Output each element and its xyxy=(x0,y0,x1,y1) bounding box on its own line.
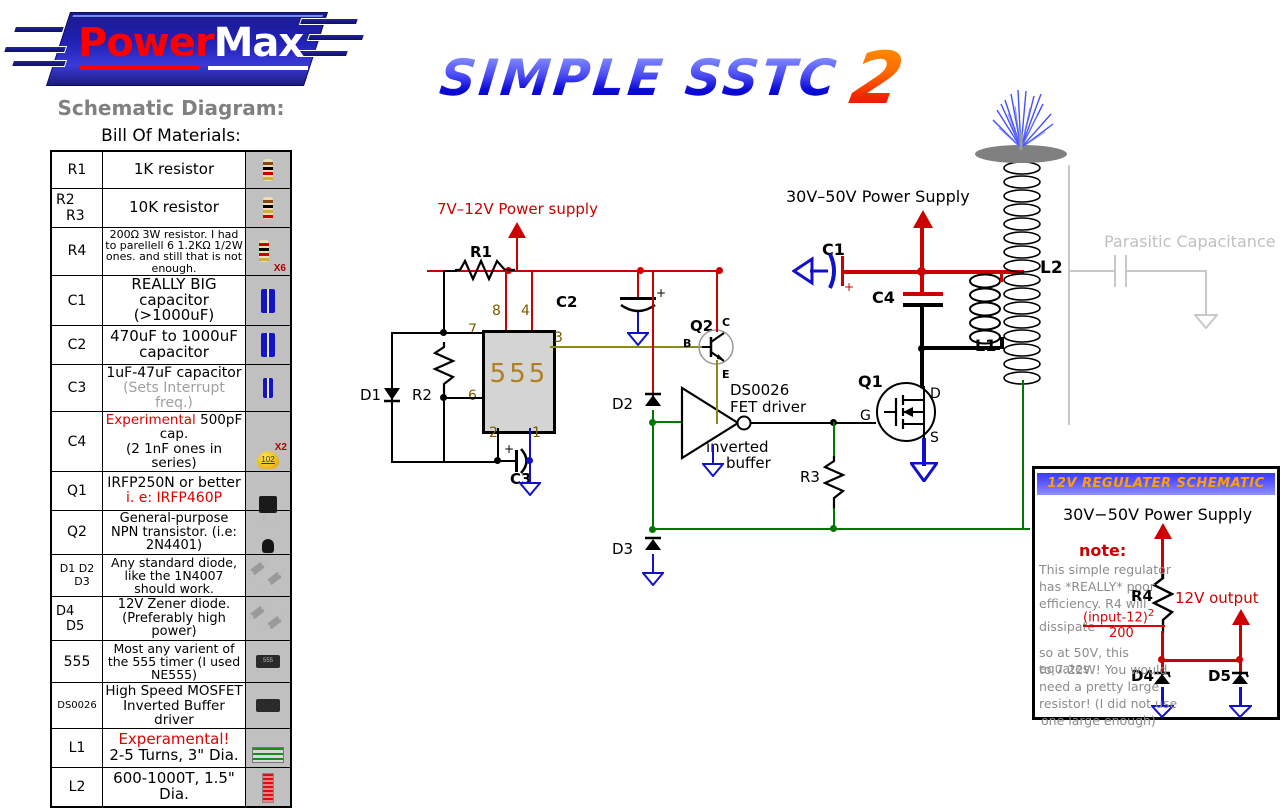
table-row: R4 200Ω 3W resistor. I had to parellell … xyxy=(51,228,291,276)
l2-secondary-coil-icon xyxy=(1002,160,1042,390)
regulator-note-line-1: This simple regulator xyxy=(1039,562,1171,578)
c2-label: C2 xyxy=(556,293,577,311)
c3-ground-wire xyxy=(529,460,531,484)
to247-mosfet-icon xyxy=(259,496,277,513)
bom-ref: L2 xyxy=(51,767,103,807)
diode-icon xyxy=(267,572,282,586)
q1-gate-terminal: G xyxy=(860,408,871,424)
r2-label: R2 xyxy=(412,386,432,404)
regulator-output-arrow-icon xyxy=(1232,609,1250,625)
q1-mosfet-icon xyxy=(876,382,936,447)
bom-icon-cell: 102 X2 xyxy=(246,412,292,472)
pin-8-label: 8 xyxy=(492,303,501,319)
driver-vcc-wire xyxy=(716,386,718,424)
pin-6-label: 6 xyxy=(468,388,477,404)
pin-1-label: 1 xyxy=(532,425,541,441)
regulator-output-rail xyxy=(1161,659,1241,662)
d3-label: D3 xyxy=(612,540,633,558)
driver-ground-wire xyxy=(712,445,714,465)
parasitic-left-wire xyxy=(1068,165,1070,425)
bom-desc: REALLY BIG capacitor (>1000uF) xyxy=(103,275,246,325)
bom-ref: 555 xyxy=(51,641,103,683)
bom-icon-cell xyxy=(246,683,292,729)
bom-qty: X6 xyxy=(274,263,286,274)
diode-icon xyxy=(267,615,282,629)
table-row: D4D5 12V Zener diode. (Preferably high p… xyxy=(51,597,291,641)
regulator-output-wire xyxy=(1239,625,1242,661)
resistor-icon xyxy=(263,197,273,219)
c3-left-wire xyxy=(497,460,515,462)
spark-discharge-icon xyxy=(985,88,1057,155)
driver-input-wire xyxy=(652,421,682,423)
pin6-wire xyxy=(443,397,484,399)
regulator-note-line-9: one large enough) xyxy=(1041,713,1173,729)
gate-drive-wire xyxy=(750,422,876,424)
bom-heading: Bill Of Materials: xyxy=(26,126,316,146)
regulator-output-label: 12V output xyxy=(1175,589,1259,607)
table-row: C3 1uF-47uF capacitor (Sets Interrupt fr… xyxy=(51,365,291,412)
bom-desc: Experimental 500pF cap. (2 1nF ones in s… xyxy=(103,412,246,472)
pin2-wire-down xyxy=(497,428,499,460)
table-row: Q2 General-purpose NPN transistor. (i.e:… xyxy=(51,510,291,554)
secondary-coil-icon xyxy=(262,773,274,803)
d2-anode-wire xyxy=(652,270,654,398)
parasitic-wire-in xyxy=(1068,270,1114,272)
q1-source-terminal: S xyxy=(930,430,939,446)
to92-transistor-icon xyxy=(262,539,274,553)
d5-label: D5 xyxy=(1208,667,1231,685)
table-row: C4 Experimental 500pF cap. (2 1nF ones i… xyxy=(51,412,291,472)
bom-ref: L1 xyxy=(51,728,103,767)
bill-of-materials-table: R1 1K resistor R2R3 10K resistor R4 200Ω… xyxy=(50,150,292,808)
c2-plate-top xyxy=(620,297,656,300)
logo-underline-red xyxy=(80,66,200,70)
low-supply-wire xyxy=(516,236,518,272)
logo-underline-white xyxy=(208,66,308,70)
page-title-text: SIMPLE SSTC xyxy=(437,49,842,107)
d1-diode-icon xyxy=(382,384,402,409)
page-title-number: 2 xyxy=(845,36,910,120)
bom-icon-cell xyxy=(246,189,292,228)
c4-bottom-wire xyxy=(920,305,924,347)
bom-desc: 1K resistor xyxy=(103,151,246,189)
ground-symbol-c3 xyxy=(519,482,541,496)
bom-qty: X2 xyxy=(275,442,287,453)
resistor-icon xyxy=(263,159,273,181)
ceramic-disc-cap-icon: 102 xyxy=(257,451,279,469)
table-row: R1 1K resistor xyxy=(51,151,291,189)
logo-text-power: Power xyxy=(78,20,214,66)
bom-desc: 470uF to 1000uF capacitor xyxy=(103,326,246,365)
bom-ref: Q2 xyxy=(51,510,103,554)
pin7-wire xyxy=(443,332,484,334)
d3-ground-wire xyxy=(652,554,654,574)
bom-desc: 600-1000T, 1.5" Dia. xyxy=(103,767,246,807)
bom-desc: Most any varient of the 555 timer (I use… xyxy=(103,641,246,683)
logo-tail-1 xyxy=(13,26,65,33)
bom-desc-text: 1uF-47uF capacitor xyxy=(106,365,241,381)
bom-icon-cell xyxy=(246,554,292,596)
bom-ref: Q1 xyxy=(51,471,103,510)
bom-desc: 12V Zener diode. (Preferably high power) xyxy=(103,597,246,641)
bom-desc: 10K resistor xyxy=(103,189,246,228)
ic-555-label: 555 xyxy=(485,359,553,389)
table-row: L1 Experamental! 2-5 Turns, 3" Dia. xyxy=(51,728,291,767)
bom-ref: C4 xyxy=(51,412,103,472)
table-row: DS0026 High Speed MOSFET Inverted Buffer… xyxy=(51,683,291,729)
c4-label: C4 xyxy=(872,288,895,307)
regulator-panel: 12V REGULATER SCHEMATIC 30V−50V Power Su… xyxy=(1032,466,1280,720)
pin8-wire xyxy=(505,270,507,330)
bom-desc: Experamental! 2-5 Turns, 3" Dia. xyxy=(103,728,246,767)
regulator-header-text: 12V REGULATER SCHEMATIC xyxy=(1037,473,1275,495)
logo-tail-3 xyxy=(11,60,67,67)
high-supply-wire xyxy=(920,226,924,272)
table-row: D1 D2D3 Any standard diode, like the 1N4… xyxy=(51,554,291,596)
bom-icon-cell xyxy=(246,471,292,510)
q2-base-terminal: B xyxy=(683,337,691,350)
regulator-supply-label: 30V−50V Power Supply xyxy=(1063,505,1252,524)
parasitic-plate-1 xyxy=(1114,255,1116,287)
regulator-note-line-7: need a pretty large xyxy=(1039,679,1171,695)
table-row: 555 Most any varient of the 555 timer (I… xyxy=(51,641,291,683)
regulator-supply-arrow-icon xyxy=(1154,523,1172,539)
driver-sub-label: FET driver xyxy=(730,398,806,416)
q1-drain-terminal: D xyxy=(930,386,941,402)
d2-cathode-wire xyxy=(652,410,654,530)
node-r2-top xyxy=(440,329,447,336)
node-r3-ground xyxy=(830,525,837,532)
table-row: Q1 IRFP250N or better i. e: IRFP460P xyxy=(51,471,291,510)
pin-4-label: 4 xyxy=(521,303,530,319)
ground-symbol-parasitic xyxy=(1194,314,1216,328)
diode-icon xyxy=(250,562,265,576)
pin-3-label: 3 xyxy=(554,330,563,346)
c3-plate-flat xyxy=(515,450,518,472)
d1-bottom-wire xyxy=(391,461,499,463)
c1-arrow-icon xyxy=(792,252,838,295)
c2-ground-wire xyxy=(637,312,639,334)
table-row: C1 REALLY BIG capacitor (>1000uF) xyxy=(51,275,291,325)
bom-ref: D1 D2D3 xyxy=(51,554,103,596)
c2-polarity-plus: + xyxy=(656,286,666,300)
bom-desc: 200Ω 3W resistor. I had to parellell 6 1… xyxy=(103,228,246,276)
formula-denominator: 200 xyxy=(1109,626,1134,641)
ground-symbol-driver xyxy=(702,463,724,477)
pin4-wire xyxy=(531,270,533,330)
bom-ref: C1 xyxy=(51,275,103,325)
bom-desc-text: REALLY BIG capacitor (>1000uF) xyxy=(131,275,216,325)
r1-to-pin7-wire xyxy=(443,270,445,332)
ground-symbol-q1 xyxy=(910,462,932,476)
bom-desc: 1uF-47uF capacitor (Sets Interrupt freq.… xyxy=(103,365,246,412)
formula-numerator-text: (input-12) xyxy=(1083,610,1148,625)
q2-emitter-terminal: E xyxy=(722,368,730,381)
bom-ref: R2R3 xyxy=(51,189,103,228)
q2-collector-wire xyxy=(716,270,718,332)
parasitic-wire-out xyxy=(1125,270,1207,272)
bom-desc-sub: (Sets Interrupt freq.) xyxy=(123,380,225,411)
bom-ref: R1 xyxy=(51,151,103,189)
bom-icon-cell: X6 xyxy=(246,228,292,276)
regulator-note-line-6: to 7.22W! You would xyxy=(1039,662,1171,678)
bom-ref: DS0026 xyxy=(51,683,103,729)
electrolytic-cap-icon xyxy=(261,333,275,357)
d1-label: D1 xyxy=(360,386,381,404)
bom-ref: D4D5 xyxy=(51,597,103,641)
bom-desc-text: 12V Zener diode. (Preferably high power) xyxy=(118,597,230,639)
logo-text-max: Max xyxy=(214,20,304,66)
resistor-icon xyxy=(259,240,269,262)
d1-top-wire xyxy=(391,332,443,334)
c2-top-wire xyxy=(637,270,639,298)
bom-desc-sub: (2 1nF ones in series) xyxy=(126,441,222,471)
logo-tail-5 xyxy=(307,34,365,41)
regulator-panel-header: 12V REGULATER SCHEMATIC xyxy=(1037,471,1275,495)
l2-bottom-wire xyxy=(1022,380,1024,530)
bom-desc: General-purpose NPN transistor. (i.e: 2N… xyxy=(103,510,246,554)
bom-ref: R4 xyxy=(51,228,103,276)
table-row: L2 600-1000T, 1.5" Dia. xyxy=(51,767,291,807)
parasitic-capacitance-label: Parasitic Capacitance xyxy=(1104,232,1276,251)
formula-numerator: (input-12)2 xyxy=(1083,608,1154,625)
dip8-ic-icon: 555 xyxy=(256,655,280,668)
driver-note-line2: buffer xyxy=(726,454,771,472)
bom-desc: IRFP250N or better i. e: IRFP460P xyxy=(103,471,246,510)
bom-icon-cell xyxy=(246,365,292,412)
bom-desc: Any standard diode, like the 1N4007 shou… xyxy=(103,554,246,596)
regulator-note-line-8: resistor! (I did not use xyxy=(1039,696,1179,712)
d5-ground-wire xyxy=(1239,687,1242,707)
l2-label: L2 xyxy=(1040,258,1063,278)
bom-icon-cell xyxy=(246,728,292,767)
bom-ref: C3 xyxy=(51,365,103,412)
bom-icon-cell xyxy=(246,275,292,325)
bom-desc-highlight: i. e: IRFP460P xyxy=(126,490,222,506)
ground-symbol-d5 xyxy=(1229,705,1251,719)
bom-icon-cell xyxy=(246,151,292,189)
bom-desc-text: IRFP250N or better xyxy=(107,475,241,491)
regulator-note-line-2: has *REALLY* poor xyxy=(1039,579,1171,595)
parasitic-ground-wire xyxy=(1205,270,1207,316)
logo-text: PowerMax xyxy=(78,18,308,68)
r2-to-pin2-wire xyxy=(443,397,445,461)
dip8-ic-icon xyxy=(256,699,280,712)
r3-resistor-icon xyxy=(822,456,846,510)
formula-exponent: 2 xyxy=(1148,608,1154,619)
c1-polarity-plus: + xyxy=(844,280,854,294)
logo-tail-2 xyxy=(3,46,67,53)
bom-icon-cell xyxy=(246,326,292,365)
schematic-diagram-heading: Schematic Diagram: xyxy=(26,96,316,120)
bom-icon-cell: 555 xyxy=(246,641,292,683)
electrolytic-cap-icon xyxy=(263,378,273,398)
powermax-logo: PowerMax xyxy=(0,4,372,96)
ground-return-rail xyxy=(652,528,1030,530)
driver-name-label: DS0026 xyxy=(730,381,789,399)
l1-primary-coil-icon xyxy=(968,272,1002,350)
table-row: C2 470uF to 1000uF capacitor xyxy=(51,326,291,365)
bom-icon-cell xyxy=(246,767,292,807)
ic-555-timer: 555 xyxy=(482,330,556,434)
bom-desc: High Speed MOSFET Inverted Buffer driver xyxy=(103,683,246,729)
regulator-note-heading: note: xyxy=(1079,541,1126,560)
pin-7-label: 7 xyxy=(468,322,477,338)
driver-inversion-bubble-icon xyxy=(736,415,752,436)
diode-icon xyxy=(250,605,265,619)
low-supply-label: 7V–12V Power supply xyxy=(437,200,598,218)
r1-left-wire xyxy=(443,270,457,272)
electrolytic-cap-icon xyxy=(261,289,275,313)
q2-collector-terminal: C xyxy=(722,316,730,329)
high-supply-label: 30V–50V Power Supply xyxy=(786,187,970,206)
r2-resistor-icon xyxy=(432,342,456,396)
c3-polarity-plus: + xyxy=(504,442,514,456)
page-title: SIMPLE SSTC2 xyxy=(440,36,903,98)
primary-coil-icon xyxy=(252,747,284,763)
bom-icon-cell xyxy=(246,597,292,641)
bom-ref: C2 xyxy=(51,326,103,365)
bom-desc-sub: 2-5 Turns, 3" Dia. xyxy=(109,746,238,764)
d2-label: D2 xyxy=(612,395,633,413)
table-row: R2R3 10K resistor xyxy=(51,189,291,228)
ground-symbol-d3 xyxy=(642,572,664,586)
ground-symbol-c2 xyxy=(627,332,649,346)
r3-top-wire xyxy=(833,422,835,456)
r3-label: R3 xyxy=(800,468,820,486)
